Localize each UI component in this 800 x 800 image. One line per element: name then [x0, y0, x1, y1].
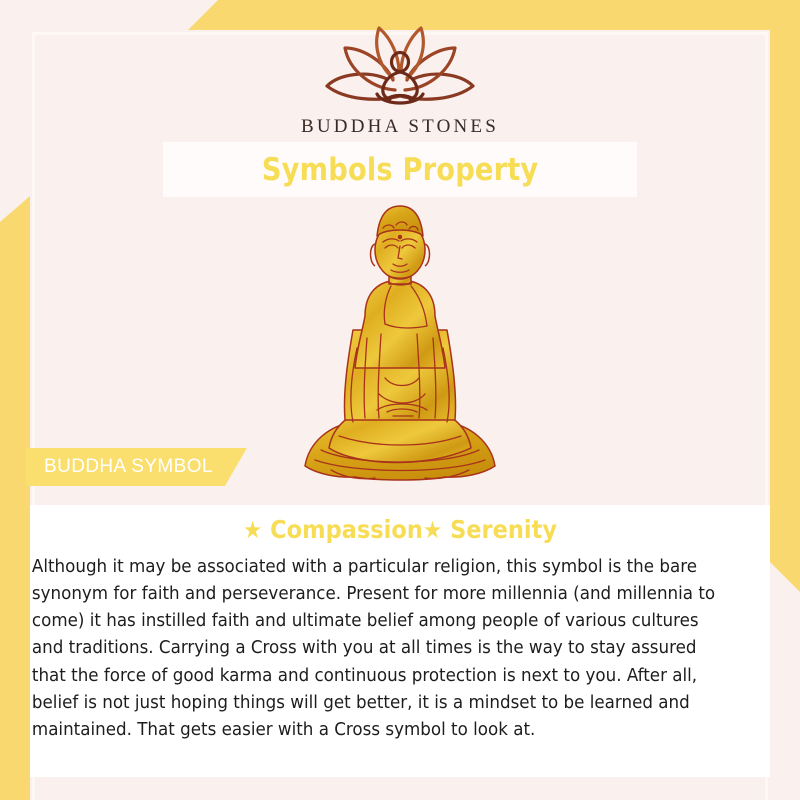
star-icon-right: ★ — [423, 516, 442, 544]
content-panel: ★ Compassion★ Serenity Although it may b… — [30, 505, 770, 777]
category-badge: BUDDHA SYMBOL — [26, 448, 247, 486]
category-badge-label: BUDDHA SYMBOL — [44, 456, 213, 478]
star-icon-left: ★ — [243, 516, 262, 544]
brand-wordmark: BUDDHA STONES — [0, 116, 800, 138]
brand-logo: BUDDHA STONES — [0, 22, 800, 138]
decor-left-bar — [0, 196, 30, 800]
subtitle-word-compassion: Compassion — [270, 515, 423, 544]
page-title: Symbols Property — [262, 152, 539, 188]
subtitle-word-serenity: Serenity — [450, 515, 557, 544]
title-banner: Symbols Property — [163, 142, 637, 197]
content-paragraph: Although it may be associated with a par… — [30, 554, 737, 744]
lotus-meditation-icon — [305, 22, 495, 114]
promo-banner-page: BUDDHA STONES Symbols Property — [0, 0, 800, 800]
seated-buddha-statue-icon — [295, 198, 505, 488]
content-subtitle: ★ Compassion★ Serenity — [67, 515, 733, 544]
